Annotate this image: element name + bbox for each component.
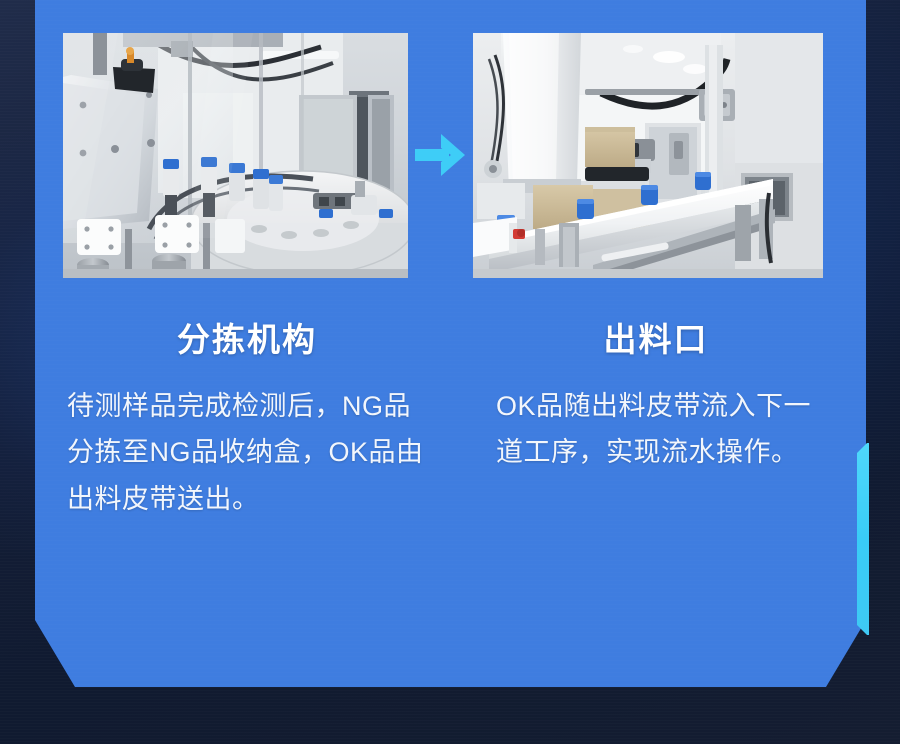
column-discharge-outlet: 出料口 OK品随出料皮带流入下一道工序，实现流水操作。 — [480, 322, 832, 476]
right-edge-cyan-accent-bar — [857, 443, 869, 635]
column-title-discharge-outlet: 出料口 — [480, 322, 832, 359]
arrow-right-icon — [415, 132, 467, 178]
column-body-discharge-outlet: OK品随出料皮带流入下一道工序，实现流水操作。 — [480, 383, 832, 476]
column-sorting-mechanism: 分拣机构 待测样品完成检测后，NG品分拣至NG品收纳盒，OK品由出料皮带送出。 — [63, 322, 431, 522]
column-body-sorting-mechanism: 待测样品完成检测后，NG品分拣至NG品收纳盒，OK品由出料皮带送出。 — [63, 383, 431, 522]
photo-sorting-mechanism — [63, 33, 408, 278]
page-root: 分拣机构 待测样品完成检测后，NG品分拣至NG品收纳盒，OK品由出料皮带送出。 … — [0, 0, 900, 744]
photo-discharge-outlet — [473, 33, 823, 278]
column-title-sorting-mechanism: 分拣机构 — [63, 322, 431, 359]
